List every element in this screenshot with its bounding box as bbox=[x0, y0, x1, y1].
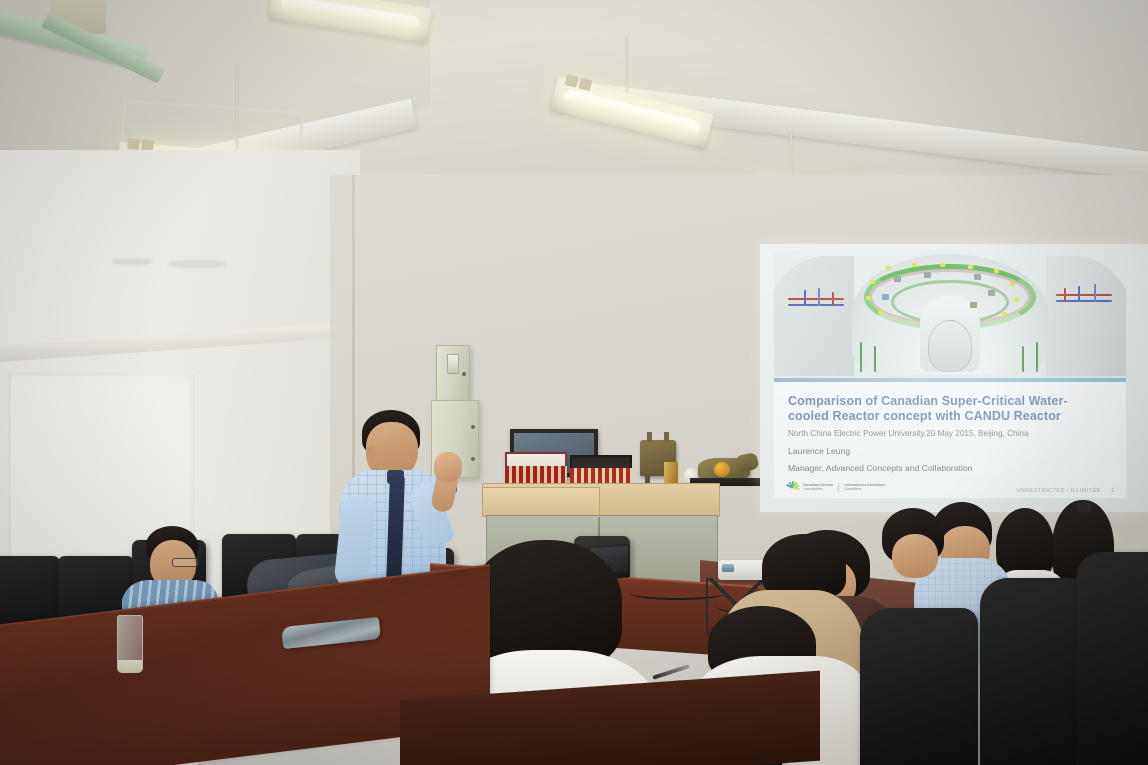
award-plaque-banner bbox=[505, 466, 567, 484]
ear bbox=[366, 446, 376, 460]
ceiling-beam bbox=[561, 80, 1148, 188]
beverage bbox=[118, 660, 142, 672]
conference-room-scene: Comparison of Canadian Super-Critical Wa… bbox=[0, 0, 1148, 765]
wall-rail bbox=[0, 321, 352, 362]
slide-text-block: Comparison of Canadian Super-Critical Wa… bbox=[774, 382, 1126, 498]
slide-venue: North China Electric Power University,20… bbox=[788, 428, 1112, 440]
wall-mark bbox=[112, 258, 152, 265]
presentation-slide: Comparison of Canadian Super-Critical Wa… bbox=[774, 250, 1126, 498]
hair bbox=[470, 540, 622, 668]
panel-latch bbox=[462, 372, 466, 376]
slide-author: Laurence Leung bbox=[788, 445, 1112, 458]
wall-mark bbox=[168, 260, 226, 268]
hair-clip bbox=[1076, 502, 1092, 512]
slide-hero-image bbox=[774, 250, 1126, 378]
brass-ox-sculpture bbox=[690, 452, 760, 486]
brass-cup bbox=[664, 462, 678, 484]
slide-number: 1 bbox=[1111, 488, 1114, 494]
cnl-name-fr: Laboratoires Nucléaires Canadiens bbox=[844, 483, 885, 492]
slide-title: Comparison of Canadian Super-Critical Wa… bbox=[788, 394, 1112, 424]
slide-footer: Canadian Nuclear Laboratories Laboratoir… bbox=[774, 480, 1126, 494]
panel-window bbox=[447, 354, 459, 374]
logo-divider bbox=[838, 483, 839, 492]
ceiling-fan bbox=[30, 0, 210, 80]
reactor-cutaway-illustration bbox=[774, 250, 1126, 378]
cnl-name-en: Canadian Nuclear Laboratories bbox=[803, 483, 833, 492]
cnl-starburst-icon bbox=[786, 480, 800, 494]
raised-hand bbox=[434, 452, 462, 482]
electrical-panel-upper bbox=[436, 345, 470, 401]
cnl-logo: Canadian Nuclear Laboratories Laboratoir… bbox=[786, 480, 885, 494]
fluorescent-light-fixture bbox=[550, 76, 713, 148]
conference-chair[interactable] bbox=[1076, 552, 1148, 765]
eyeglasses bbox=[172, 558, 198, 567]
glass-tumbler[interactable] bbox=[117, 615, 143, 673]
slide-role: Manager, Advanced Concepts and Collabora… bbox=[788, 462, 1112, 475]
conference-chair[interactable] bbox=[980, 578, 1084, 765]
slide-classification: UNRESTRICTED / ILLIMITÉE bbox=[1016, 488, 1101, 494]
conference-chair[interactable] bbox=[860, 608, 978, 765]
cabinet-top bbox=[482, 487, 600, 517]
projector-lens bbox=[722, 564, 734, 572]
